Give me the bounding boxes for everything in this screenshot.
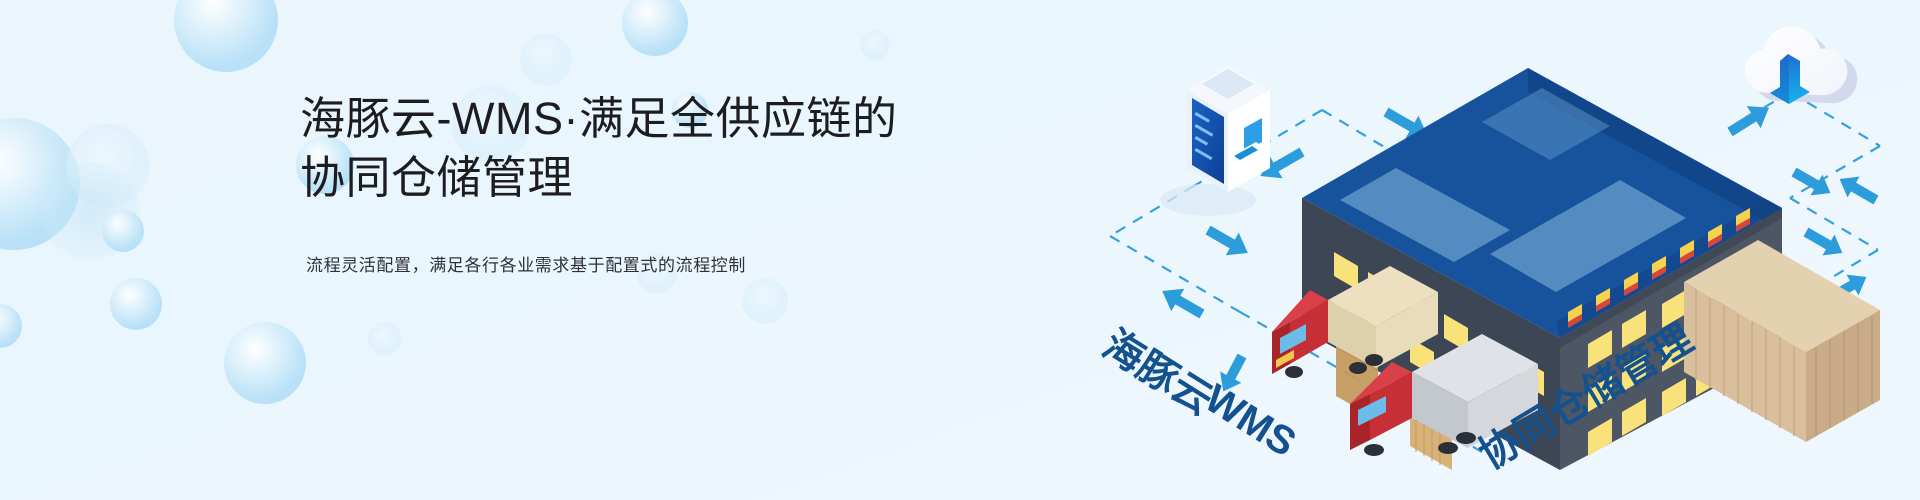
bubble-2 [66, 124, 150, 208]
server-rack-icon [1160, 66, 1270, 216]
wms-hero-banner: 海豚云-WMS·满足全供应链的 协同仓储管理 流程灵活配置，满足各行各业需求基于… [0, 0, 1920, 500]
bubble-12 [520, 34, 572, 86]
bubble-1 [0, 118, 80, 250]
bubble-3 [42, 162, 140, 260]
bubble-6 [224, 322, 306, 404]
bubble-4 [102, 210, 144, 252]
hero-copy: 海豚云-WMS·满足全供应链的 协同仓储管理 流程灵活配置，满足各行各业需求基于… [300, 90, 1000, 279]
bubble-15 [368, 322, 402, 356]
warehouse-illustration: 海豚云 WMS 协同仓储管理 [1090, 0, 1920, 500]
page-title: 海豚云-WMS·满足全供应链的 协同仓储管理 [300, 90, 1000, 207]
shipping-container-icon [1684, 240, 1880, 442]
bubble-7 [0, 304, 22, 348]
page-subtitle: 流程灵活配置，满足各行各业需求基于配置式的流程控制 [306, 253, 1000, 279]
bubble-9 [622, 0, 688, 56]
cloud-download-icon [1745, 27, 1857, 104]
bubble-14 [742, 278, 788, 324]
bubble-16 [860, 30, 890, 60]
bubble-5 [110, 278, 162, 330]
label-wms-text: WMS [1197, 376, 1303, 465]
bubble-0 [174, 0, 278, 72]
